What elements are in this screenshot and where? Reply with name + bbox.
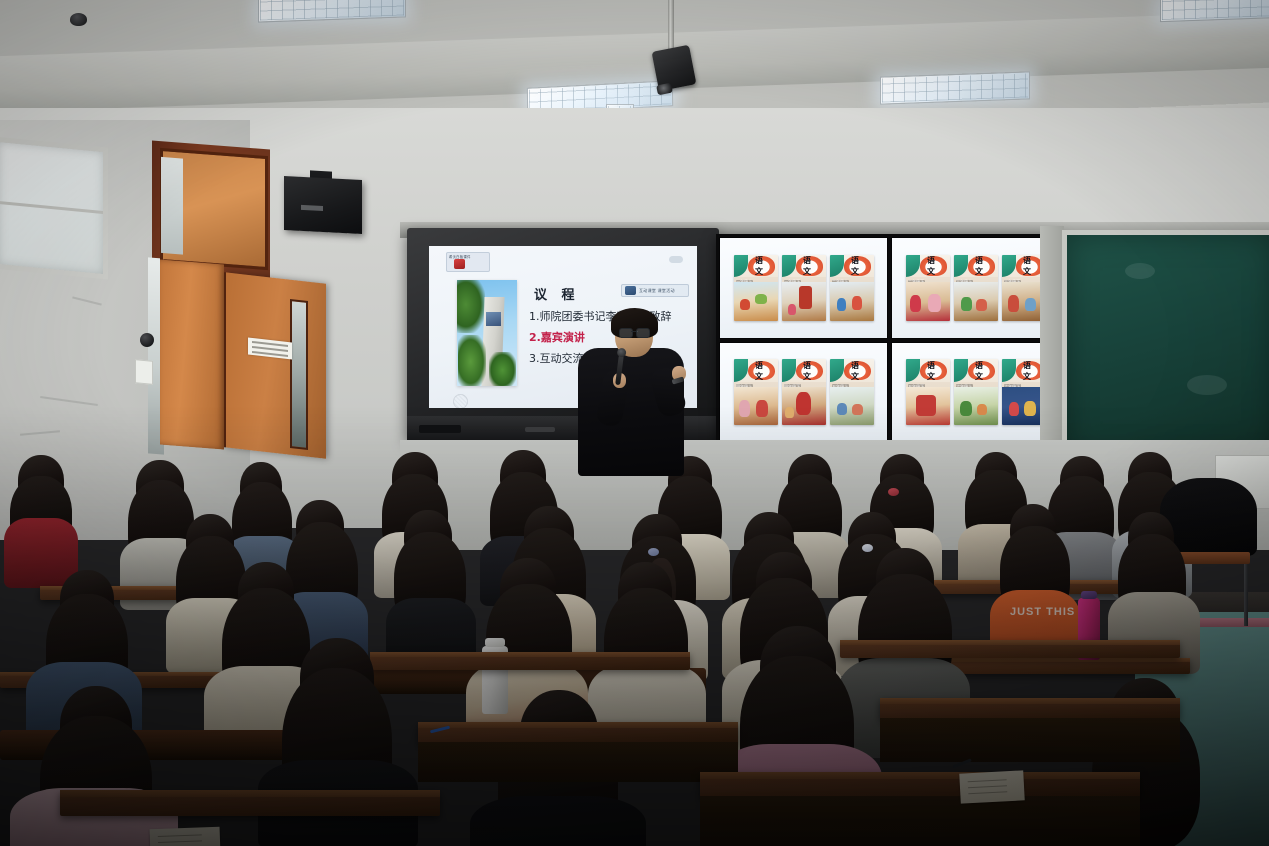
slide-watermark-icon [453,394,468,408]
ceiling-light-1 [258,0,406,23]
desk-row-4 [880,698,1180,720]
desk-row-4-panel [418,742,738,782]
desk-row-3 [370,652,690,670]
chalk-smudge [1125,263,1155,279]
desk-row-5-left [60,790,440,816]
desk-row-4-panel [880,718,1180,762]
chalk-smudge [1187,375,1227,395]
textbook-subject-label: 语文 [851,365,864,376]
door-leaf-fixed[interactable] [160,260,224,450]
textbook-illustration [782,387,826,425]
textbook-subject-label: 语文 [1023,365,1036,376]
desk-row-5 [700,772,1140,798]
open-notebook [150,827,221,846]
smoke-detector-left [70,13,87,26]
classroom-scene: 希沃白板课件 互动课堂 课堂活动 议 程 1.师院团委书记李萌老师致辞 2. [0,0,1269,846]
textbook-illustration [954,282,998,320]
textbook-subject-label: 语文 [975,261,988,272]
open-notebook [959,770,1024,803]
hair-tie [648,548,659,556]
textbook-row: 语文 一年级上册 语文 一年级下册 [734,255,874,321]
textbook-cover: 语文 一年级下册 [782,255,826,321]
agenda-3-number: 3. [529,352,540,365]
hair-tie [862,544,873,552]
door-vision-panel [290,299,308,450]
textbook-illustration [734,282,778,320]
agenda-3-text: 互动交流 [540,352,584,365]
textbook-illustration [1002,282,1046,320]
textbook-subject-label: 语文 [755,261,768,272]
agenda-2-number: 2. [529,331,541,344]
slide-agenda-item-3: 3.互动交流 [529,350,584,366]
speaker-brand-label [301,205,323,211]
student-body [470,796,646,846]
textbook-cover: 语文 五年级下册 [906,359,950,425]
textbook-row: 语文 五年级下册 语文 六年级上册 [906,359,1046,425]
textbook-cover: 语文 三年级上册 [954,255,998,321]
textbook-subject-label: 语文 [1023,261,1036,272]
textbook-illustration [830,387,874,425]
toolbar-tag-label: 互动课堂 课堂活动 [639,288,675,294]
textbook-illustration [734,387,778,425]
slide-top-right-control[interactable] [669,256,683,263]
textbook-cover: 语文 四年级上册 [734,359,778,425]
photo-foliage-left [458,335,486,386]
textbook-cover: 语文 一年级上册 [734,255,778,321]
jacket-text-label: JUST THIS [1010,606,1075,618]
slide-agenda-item-2: 2.嘉宾演讲 [529,329,585,345]
projection-screen-roller [1040,226,1064,458]
photo-foliage-bottom [489,352,515,386]
agenda-1-number: 1. [529,310,540,323]
bottle-cap [485,638,505,648]
slide-logo-mark-icon [454,259,465,269]
presenter-glasses-icon [619,328,650,336]
textbook-row: 语文 四年级上册 语文 四年级下册 [734,359,874,425]
textbook-cover: 语文 六年级下册 [1002,359,1046,425]
video-wall-panel-top-left: 语文 一年级上册 语文 一年级下册 [719,237,888,339]
chalkboard [1062,230,1269,462]
photo-foliage-top [457,280,485,333]
ceiling-light-3 [880,71,1030,104]
agenda-2-text: 嘉宾演讲 [541,331,585,344]
slide-toolbar-tag[interactable]: 互动课堂 课堂活动 [621,284,689,297]
textbook-illustration [906,282,950,320]
video-wall-panel-top-right: 语文 二年级下册 语文 三年级上册 [891,237,1060,339]
hair-tie [888,488,899,496]
chair-leg [1244,564,1248,626]
slide-software-logo: 希沃白板课件 [446,252,490,272]
photo-monument-plaque [486,312,502,326]
projector-mount-pole [668,0,674,52]
desk-row-5-panel [700,796,1140,846]
textbook-subject-label: 语文 [851,261,864,272]
textbook-illustration [782,282,826,320]
textbook-subject-label: 语文 [975,365,988,376]
ceiling-light-4 [1160,0,1269,22]
textbook-cover: 语文 四年级下册 [782,359,826,425]
video-wall-panel-bottom-left: 语文 四年级上册 语文 四年级下册 [719,342,888,444]
textbook-subject-label: 语文 [803,261,816,272]
textbook-illustration [1002,387,1046,425]
door-sensor-icon [140,333,154,347]
textbook-cover: 语文 二年级上册 [830,255,874,321]
slide-title: 议 程 [534,284,580,303]
door-leaf-open[interactable] [224,272,326,459]
light-switch[interactable] [135,359,153,385]
audience-area: JUST THIS [0,440,1269,846]
toolbar-tag-icon [625,286,636,295]
textbook-cover: 语文 六年级上册 [954,359,998,425]
bottle-cap [1081,591,1098,600]
whiteboard-sensor-strip [525,427,555,432]
desk-row-4 [418,722,738,744]
textbook-cover: 语文 二年级下册 [906,255,950,321]
video-wall-panel-bottom-right: 语文 五年级下册 语文 六年级上册 [891,342,1060,444]
textbook-cover: 语文 三年级下册 [1002,255,1046,321]
textbook-illustration [906,387,950,425]
textbook-subject-label: 语文 [927,261,940,272]
textbook-subject-label: 语文 [803,365,816,376]
door-transom-panel [160,148,268,270]
textbook-illustration [830,282,874,320]
textbook-subject-label: 语文 [755,365,768,376]
textbook-illustration [954,387,998,425]
textbook-row: 语文 二年级下册 语文 三年级上册 [906,255,1046,321]
whiteboard-control-panel[interactable] [419,425,461,433]
desk-row-3 [840,640,1180,658]
textbook-subject-label: 语文 [927,365,940,376]
window-mullion [0,201,103,214]
textbook-cover: 语文 五年级上册 [830,359,874,425]
video-wall: 语文 一年级上册 语文 一年级下册 [716,234,1063,446]
left-wall-window [0,137,108,280]
wall-speaker [284,176,362,234]
slide-campus-photo [457,280,517,386]
